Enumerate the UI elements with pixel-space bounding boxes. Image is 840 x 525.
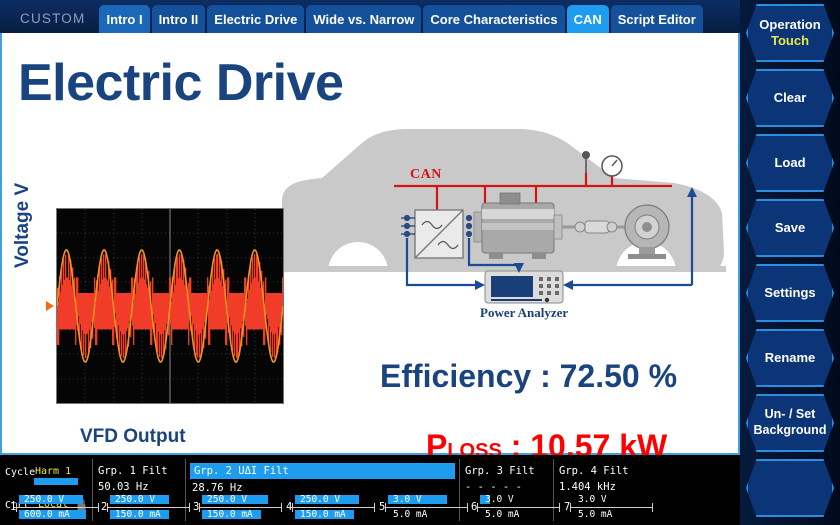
main-content-area: Electric Drive CAN Power Analyzer Voltag…	[0, 33, 740, 455]
channel-2-voltage-value: 250.0 V	[113, 494, 155, 505]
group-3-frequency: - - - - -	[465, 481, 522, 493]
custom-label: CUSTOM	[8, 11, 99, 33]
efficiency-readout: Efficiency : 72.50 %	[380, 358, 677, 395]
softkey-clear-label: Clear	[774, 90, 807, 106]
channel-2-tick-left	[107, 503, 108, 512]
channel-4-tick-right	[374, 503, 375, 512]
softkey-operation[interactable]: Operation Touch	[746, 4, 834, 62]
channel-7-tick-left	[570, 503, 571, 512]
scope-y-axis-label: Voltage V	[12, 183, 34, 268]
softkey-set-background-label: Un- / Set	[765, 407, 816, 423]
waveform-svg	[57, 209, 283, 403]
status-divider-2	[185, 459, 186, 521]
channel-3-tick-right	[281, 503, 282, 512]
channel-3-voltage-value: 250.0 V	[205, 494, 247, 505]
cycle-label: Cycle	[5, 467, 35, 478]
efficiency-label: Efficiency :	[380, 358, 560, 394]
power-analyzer-label: Power Analyzer	[480, 305, 568, 321]
group-2-frequency: 28.76 Hz	[192, 482, 243, 494]
softkey-clear[interactable]: Clear	[746, 69, 834, 127]
softkey-load-label: Load	[774, 155, 805, 171]
channel-3-current-value: 150.0 mA	[205, 509, 253, 520]
softkey-save[interactable]: Save	[746, 199, 834, 257]
cycle-value[interactable]: Harm 1	[35, 466, 71, 477]
softkey-empty[interactable]	[746, 459, 834, 517]
channel-4-voltage-value: 250.0 V	[298, 494, 340, 505]
status-bar: Cycle Harm 1 Ctrl Local Grp. 1 Filt 50.0…	[0, 455, 740, 525]
channel-5-tick-left	[385, 503, 386, 512]
channel-2-current-value: 150.0 mA	[113, 509, 161, 520]
channel-1-voltage-value: 250.0 V	[22, 494, 64, 505]
channel-1-tick-left	[16, 503, 17, 512]
channel-5-tick-right	[467, 503, 468, 512]
power-analyzer-icon	[485, 271, 563, 303]
electric-motor-icon	[474, 193, 562, 259]
channel-4-axis	[292, 507, 374, 508]
tab-core-characteristics[interactable]: Core Characteristics	[423, 5, 564, 33]
softkey-set-background[interactable]: Un- / Set Background	[746, 394, 834, 452]
softkey-settings[interactable]: Settings	[746, 264, 834, 322]
channel-6-current-value: 5.0 mA	[483, 509, 519, 520]
group-1-frequency: 50.03 Hz	[98, 481, 149, 493]
channel-3-axis	[199, 507, 281, 508]
softkey-settings-label: Settings	[764, 285, 815, 301]
tab-intro-i[interactable]: Intro I	[99, 5, 149, 33]
channel-6-tick-right	[559, 503, 560, 512]
channel-6-voltage-value: 3.0 V	[483, 494, 514, 505]
status-divider-3	[459, 459, 460, 521]
tab-can[interactable]: CAN	[567, 5, 609, 33]
group-4-frequency: 1.404 kHz	[559, 481, 616, 493]
channel-7-axis	[570, 507, 652, 508]
channel-7-current-value: 5.0 mA	[576, 509, 612, 520]
inverter-icon	[415, 210, 463, 258]
app-window: CUSTOM Intro I Intro II Electric Drive W…	[0, 0, 840, 525]
channel-6-tick-left	[477, 503, 478, 512]
status-divider-1	[92, 459, 93, 521]
motor-terminals	[467, 216, 472, 237]
channel-7-tick-right	[652, 503, 653, 512]
status-divider-4	[553, 459, 554, 521]
softkey-rename-label: Rename	[765, 350, 816, 366]
softkey-load[interactable]: Load	[746, 134, 834, 192]
channel-2-tick-right	[189, 503, 190, 512]
channel-3-tick-left	[199, 503, 200, 512]
channel-5-voltage-value: 3.0 V	[391, 494, 422, 505]
softkey-rename[interactable]: Rename	[746, 329, 834, 387]
channel-5-current-value: 5.0 mA	[391, 509, 427, 520]
soft-key-sidebar: Operation Touch Clear Load Save Settings…	[740, 0, 840, 525]
channel-4-tick-left	[292, 503, 293, 512]
softkey-save-label: Save	[775, 220, 805, 236]
group-2-header[interactable]: Grp. 2 UΔI Filt	[190, 463, 455, 479]
channel-2-axis	[107, 507, 189, 508]
softkey-operation-value: Touch	[771, 33, 809, 49]
trigger-marker-icon	[46, 301, 54, 311]
tab-intro-ii[interactable]: Intro II	[152, 5, 206, 33]
tab-bar: CUSTOM Intro I Intro II Electric Drive W…	[0, 0, 740, 33]
efficiency-value: 72.50 %	[560, 358, 677, 394]
tab-script-editor[interactable]: Script Editor	[611, 5, 703, 33]
cycle-bar	[34, 478, 78, 485]
tab-wide-vs-narrow[interactable]: Wide vs. Narrow	[306, 5, 421, 33]
group-1-header[interactable]: Grp. 1 Filt	[98, 465, 168, 477]
channel-5-axis	[385, 507, 467, 508]
group-4-header[interactable]: Grp. 4 Filt	[559, 465, 629, 477]
page-title: Electric Drive	[18, 57, 343, 109]
channel-7-voltage-value: 3.0 V	[576, 494, 607, 505]
softkey-operation-label: Operation	[759, 17, 820, 33]
channel-4-current-value: 150.0 mA	[298, 509, 346, 520]
channel-6-axis	[477, 507, 559, 508]
group-3-header[interactable]: Grp. 3 Filt	[465, 465, 535, 477]
channel-1-axis	[16, 507, 98, 508]
channel-1-current-value: 600.0 mA	[22, 509, 70, 520]
tab-electric-drive[interactable]: Electric Drive	[207, 5, 304, 33]
waveform-display[interactable]	[56, 208, 284, 404]
channel-1-tick-right	[98, 503, 99, 512]
can-bus-label: CAN	[410, 167, 442, 183]
scope-x-axis-label: VFD Output	[80, 426, 186, 448]
softkey-set-background-label2: Background	[754, 423, 827, 439]
